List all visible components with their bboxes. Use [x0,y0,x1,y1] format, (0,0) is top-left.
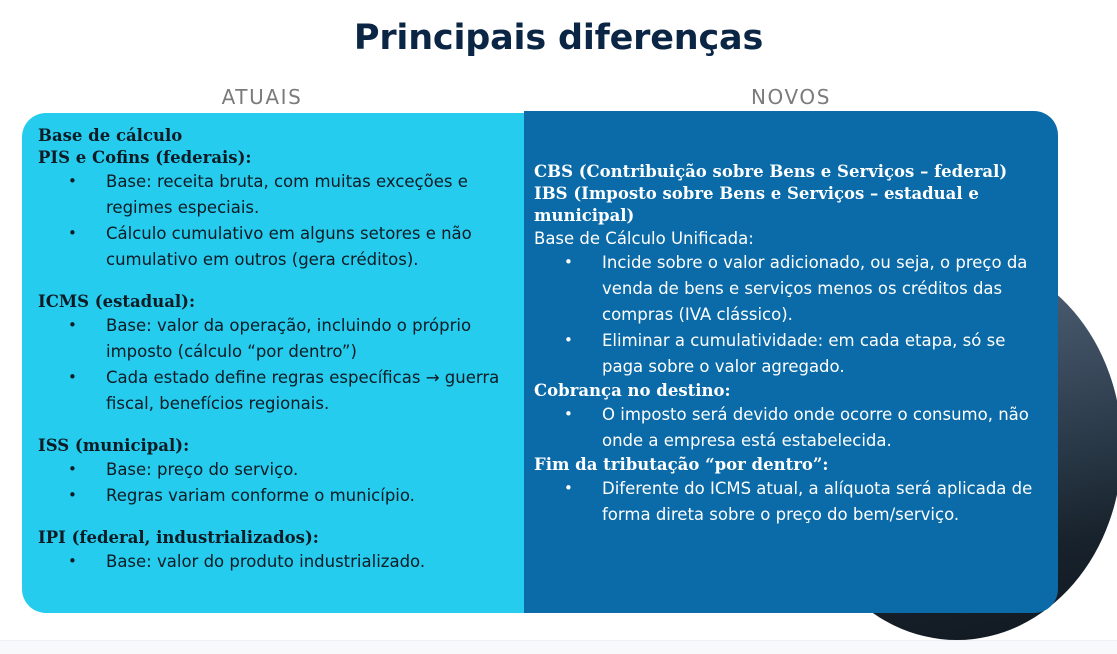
spacer [38,273,506,291]
list-item: Incide sobre o valor adicionado, ou seja… [534,250,1044,328]
right-panel-title-cbs: CBS (Contribuição sobre Bens e Serviços … [534,161,1044,183]
section-heading-icms: ICMS (estadual): [38,291,506,313]
column-header-atuais: ATUAIS [0,84,524,110]
page-title: Principais diferenças [0,16,1117,60]
right-panel-title-ibs: IBS (Imposto sobre Bens e Serviços – est… [534,183,1044,227]
list-item: Eliminar a cumulatividade: em cada etapa… [534,328,1044,380]
list-item: Regras variam conforme o município. [38,483,506,509]
section-heading-iss: ISS (municipal): [38,435,506,457]
section-heading-cobranca-destino: Cobrança no destino: [534,380,1044,402]
spacer [38,509,506,527]
right-panel-content: CBS (Contribuição sobre Bens e Serviços … [532,123,1044,528]
list-item: O imposto será devido onde ocorre o cons… [534,402,1044,454]
list-item: Cada estado define regras específicas → … [38,365,506,417]
list-item: Base: preço do serviço. [38,457,506,483]
bullet-list-iss: Base: preço do serviço. Regras variam co… [38,457,506,509]
bullet-list-pis-cofins: Base: receita bruta, com muitas exceções… [38,169,506,273]
spacer [38,417,506,435]
bullet-list-fim-tributacao: Diferente do ICMS atual, a alíquota será… [534,476,1044,528]
bottom-strip [0,640,1117,654]
panel-current-taxes: Base de cálculo PIS e Cofins (federais):… [22,113,524,613]
slide-canvas: Principais diferenças ATUAIS NOVOS Base … [0,0,1117,654]
bullet-list-ipi: Base: valor do produto industrializado. [38,549,506,575]
section-heading-pis-cofins: PIS e Cofins (federais): [38,147,506,169]
section-heading-fim-tributacao: Fim da tributação “por dentro”: [534,454,1044,476]
section-heading-ipi: IPI (federal, industrializados): [38,527,506,549]
left-panel-title: Base de cálculo [38,125,506,147]
list-item: Base: receita bruta, com muitas exceções… [38,169,506,221]
list-item: Base: valor da operação, incluindo o pró… [38,313,506,365]
bullet-list-cobranca-destino: O imposto será devido onde ocorre o cons… [534,402,1044,454]
list-item: Base: valor do produto industrializado. [38,549,506,575]
list-item: Cálculo cumulativo em alguns setores e n… [38,221,506,273]
list-item: Diferente do ICMS atual, a alíquota será… [534,476,1044,528]
panel-new-taxes: CBS (Contribuição sobre Bens e Serviços … [524,111,1058,613]
column-header-novos: NOVOS [524,84,1058,110]
bullet-list-icms: Base: valor da operação, incluindo o pró… [38,313,506,417]
left-panel-content: Base de cálculo PIS e Cofins (federais):… [32,125,506,575]
right-panel-subtitle: Base de Cálculo Unificada: [534,227,1044,250]
bullet-list-base-unificada: Incide sobre o valor adicionado, ou seja… [534,250,1044,380]
